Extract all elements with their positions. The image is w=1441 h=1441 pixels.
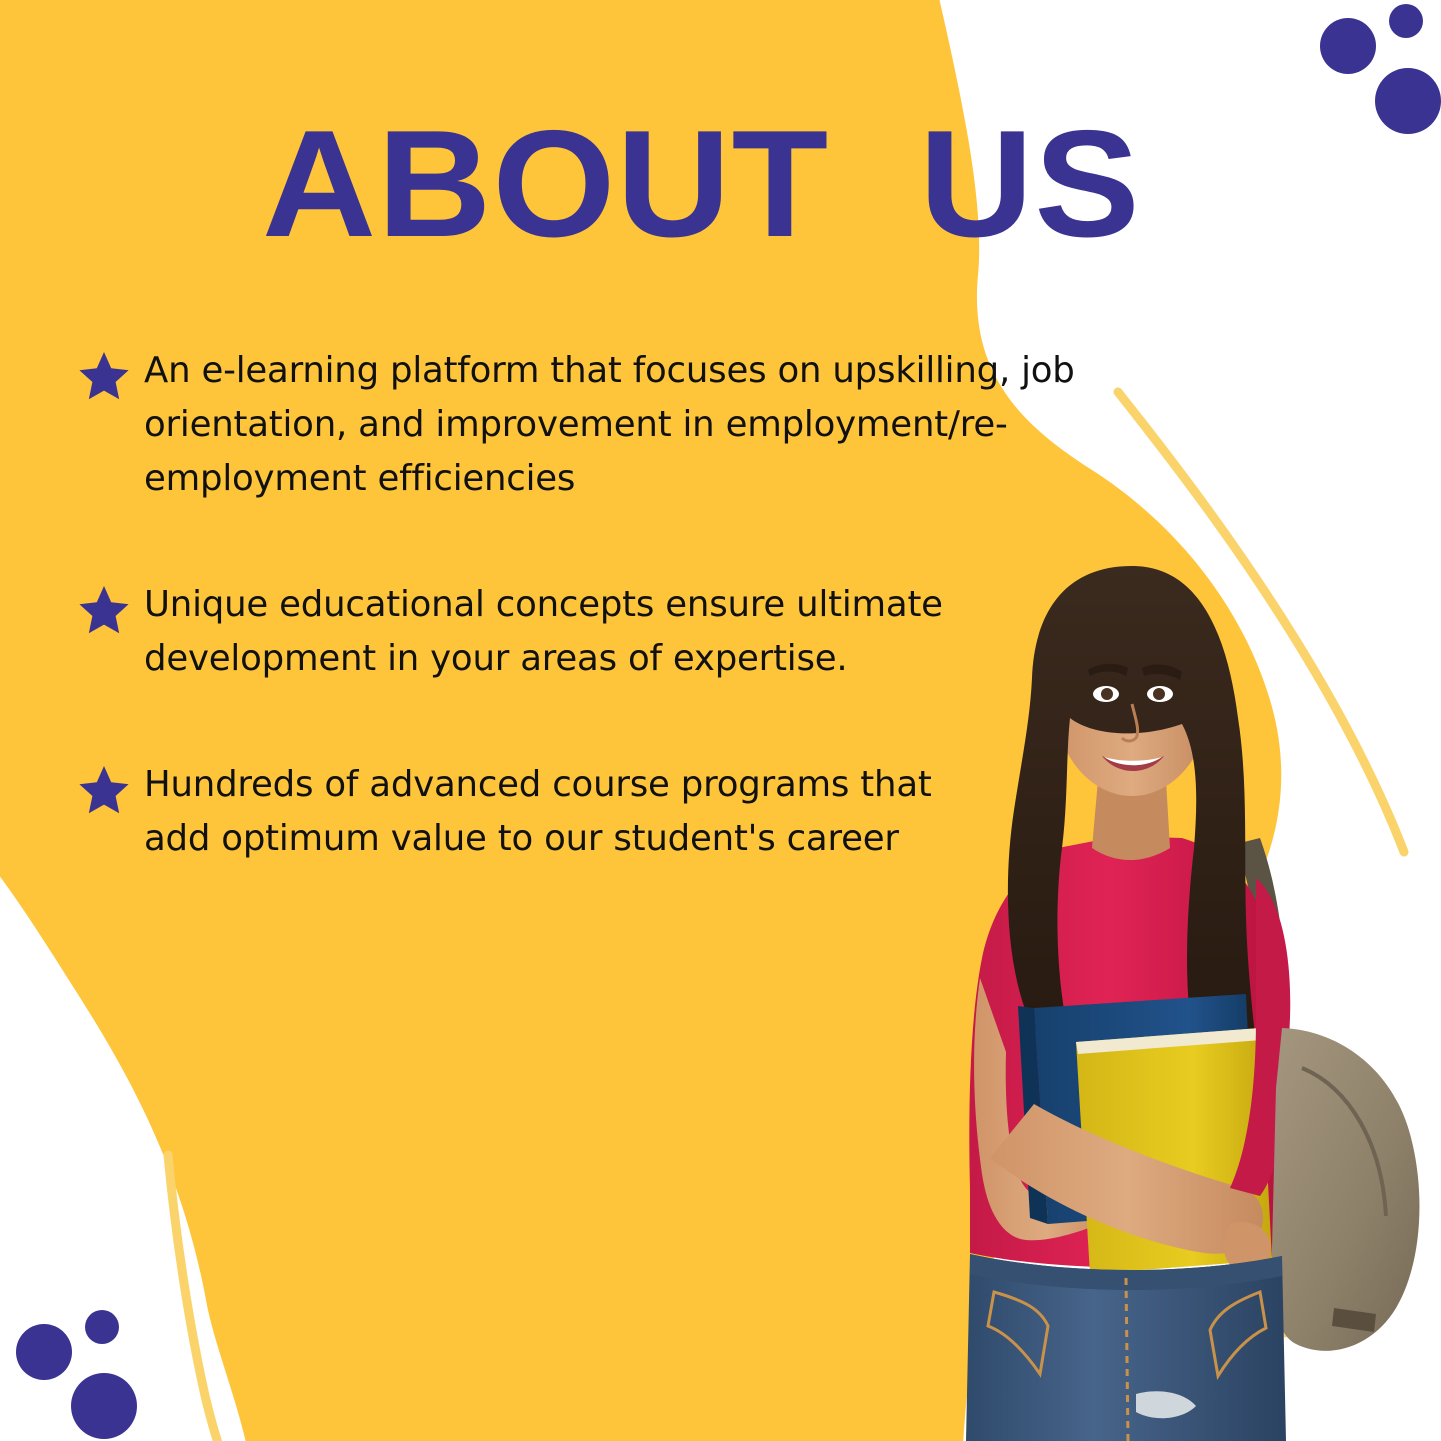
- pupil-right: [1153, 688, 1165, 700]
- list-item: An e-learning platform that focuses on u…: [78, 344, 1078, 506]
- pupil-left: [1101, 688, 1113, 700]
- list-item: Unique educational concepts ensure ultim…: [78, 578, 1078, 686]
- page-title: ABOUT US: [262, 108, 1141, 260]
- list-item: Hundreds of advanced course programs tha…: [78, 758, 1078, 866]
- decor-dot-top-right-1: [1320, 18, 1376, 74]
- list-item-label: An e-learning platform that focuses on u…: [144, 344, 1078, 506]
- bullet-list: An e-learning platform that focuses on u…: [78, 344, 1078, 938]
- decor-dot-top-right-3: [1375, 68, 1441, 134]
- decor-dot-top-right-2: [1389, 4, 1423, 38]
- star-icon: [78, 584, 130, 636]
- decor-dot-bottom-left-3: [71, 1373, 137, 1439]
- star-icon: [78, 764, 130, 816]
- backpack: [1272, 1028, 1420, 1351]
- decor-dot-bottom-left-2: [85, 1310, 119, 1344]
- list-item-label: Unique educational concepts ensure ultim…: [144, 578, 954, 686]
- about-us-poster: ABOUT US An e-learning platform that foc…: [0, 0, 1441, 1441]
- star-icon: [78, 350, 130, 402]
- decor-dot-bottom-left-1: [16, 1324, 72, 1380]
- list-item-label: Hundreds of advanced course programs tha…: [144, 758, 964, 866]
